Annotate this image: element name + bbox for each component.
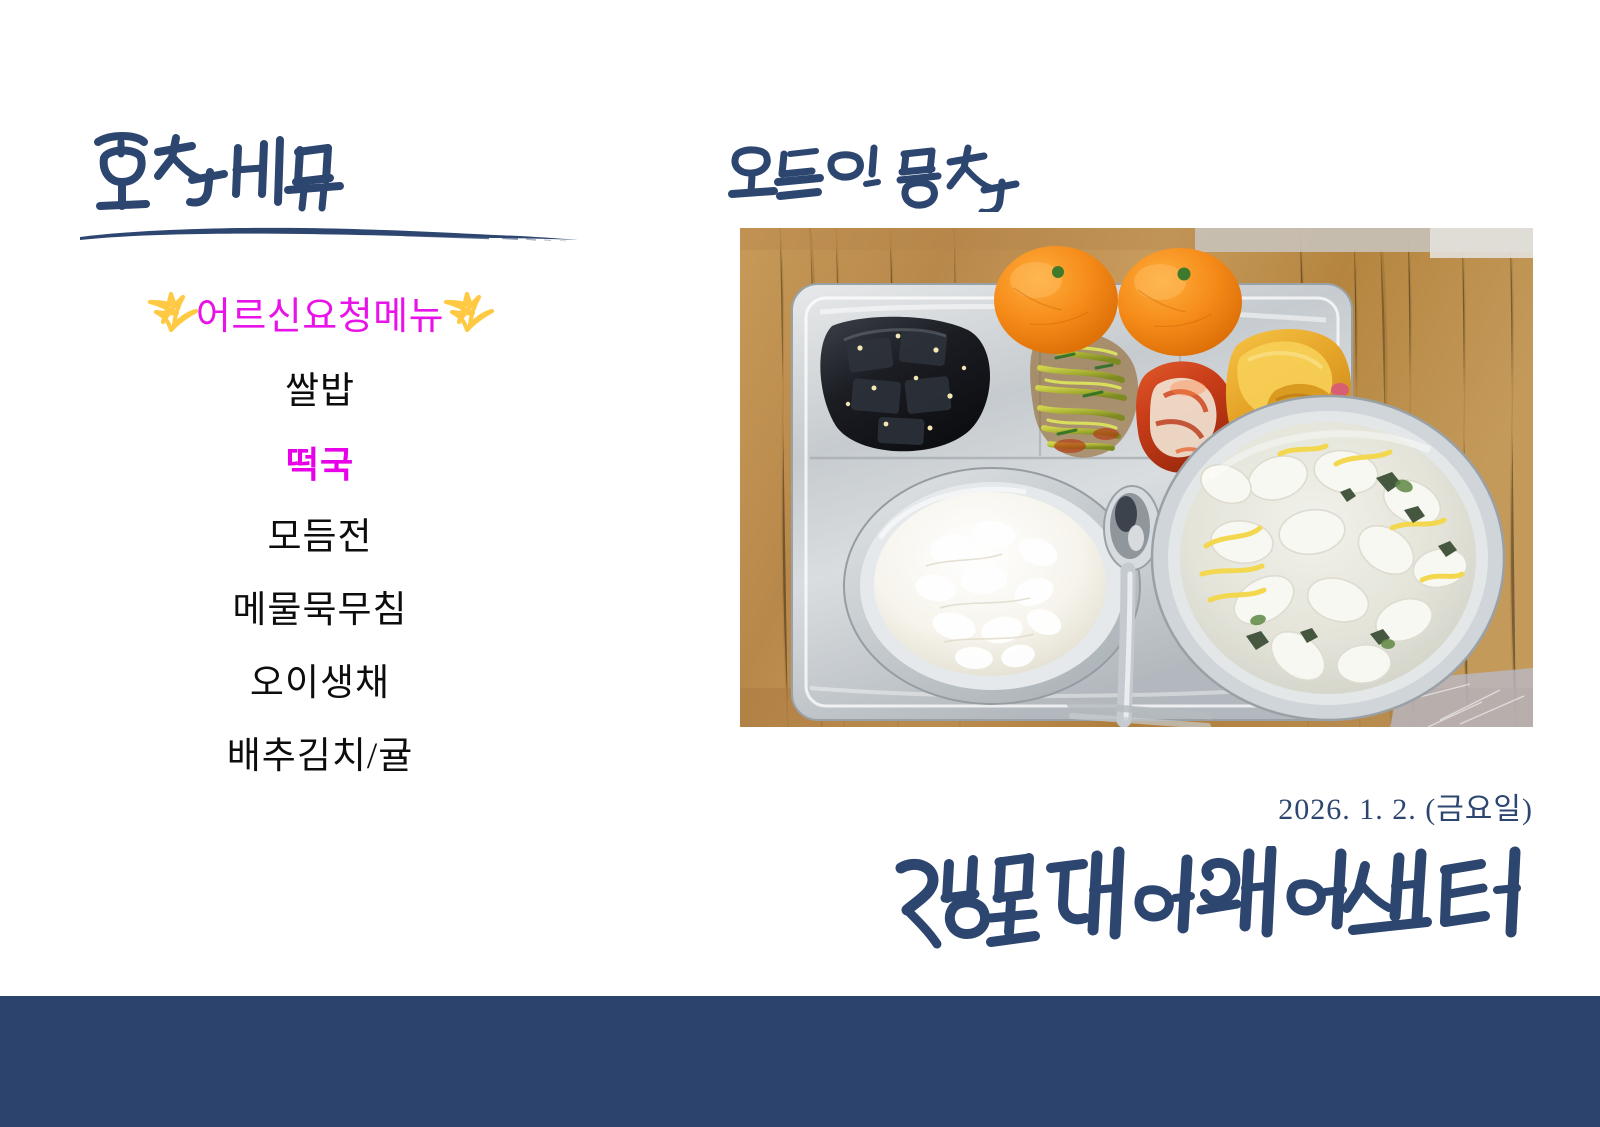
star-icon — [440, 289, 496, 345]
star-icon — [144, 289, 200, 345]
menu-item: 떡국 — [60, 428, 580, 501]
senior-request-banner: 어르신요청메뉴 — [60, 286, 580, 348]
menu-title-handwriting — [88, 128, 568, 212]
menu-item: 쌀밥 — [60, 355, 580, 428]
todays-food-photo — [740, 228, 1533, 727]
menu-item: 메물묵무침 — [60, 574, 580, 647]
menu-date: 2026. 1. 2. (금요일) — [1000, 784, 1533, 828]
menu-item: 배추김치/귤 — [60, 720, 580, 793]
menu-item: 모듬전 — [60, 501, 580, 574]
lunch-menu-poster: 어르신요청메뉴 쌀밥 떡국 모듬전 메물묵무침 오이생채 배추김치/귤 — [0, 0, 1600, 1127]
center-brand-logo — [893, 846, 1533, 958]
title-divider-brushstroke — [74, 218, 584, 248]
menu-item-list: 쌀밥 떡국 모듬전 메물묵무침 오이생채 배추김치/귤 — [60, 355, 580, 793]
menu-item: 오이생채 — [60, 647, 580, 720]
footer-bar — [0, 996, 1600, 1127]
senior-request-label: 어르신요청메뉴 — [196, 298, 444, 336]
todays-food-title-handwriting — [728, 140, 1028, 212]
